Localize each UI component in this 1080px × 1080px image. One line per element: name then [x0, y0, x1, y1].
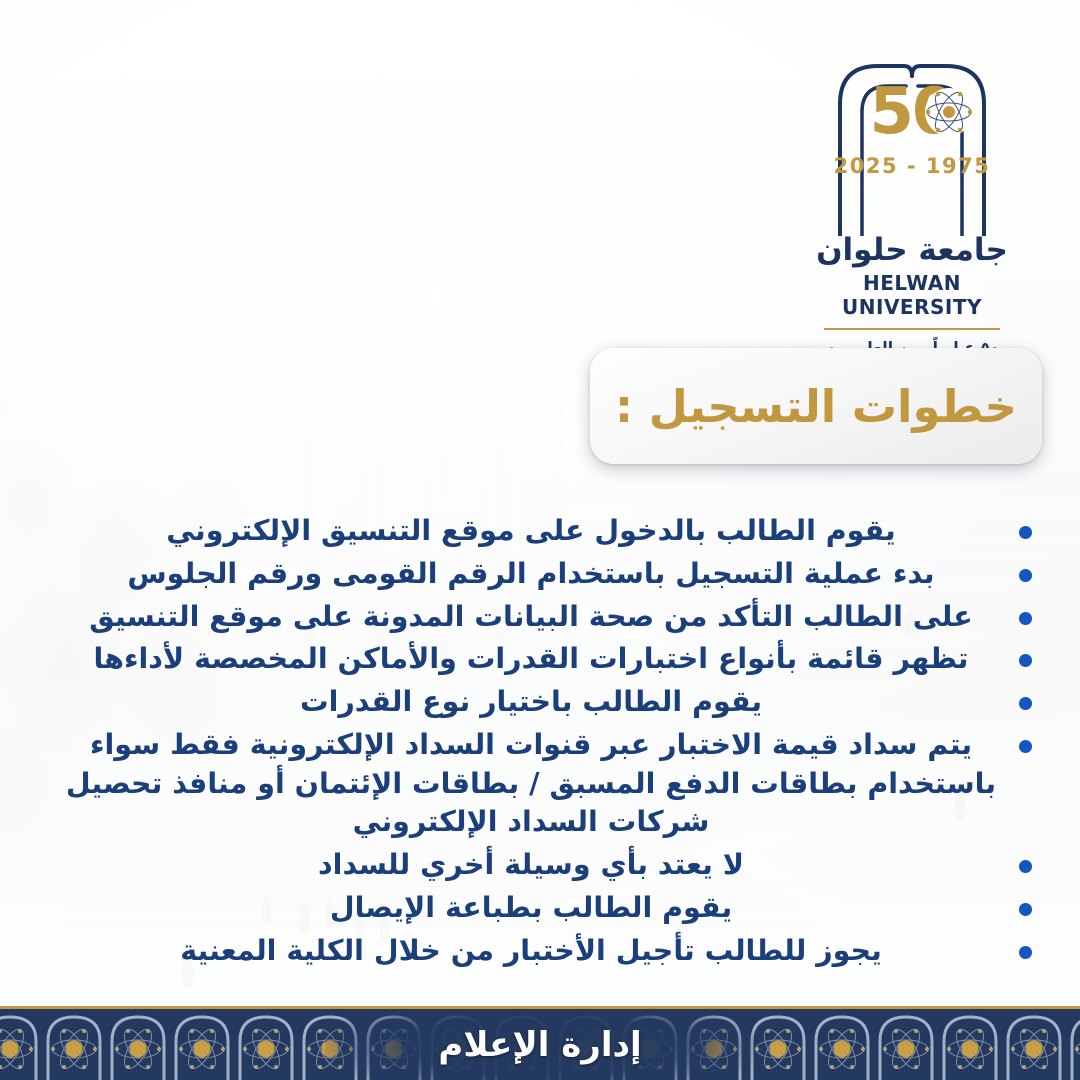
registration-step-item: يقوم الطالب بطباعة الإيصال	[60, 889, 1036, 928]
bullet-icon	[1019, 654, 1032, 667]
logo-anniversary-mark: 50 1975 - 2025	[796, 56, 1028, 236]
registration-step-item: يتم سداد قيمة الاختبار عبر قنوات السداد …	[60, 726, 1036, 842]
registration-step-text: يتم سداد قيمة الاختبار عبر قنوات السداد …	[66, 728, 996, 839]
registration-step-item: تظهر قائمة بأنواع اختبارات القدرات والأم…	[60, 640, 1036, 679]
bullet-icon	[1019, 526, 1032, 539]
page-title: خطوات التسجيل :	[615, 380, 1017, 433]
logo-divider	[824, 328, 1000, 330]
bullet-icon	[1019, 697, 1032, 710]
registration-steps-list: يقوم الطالب بالدخول على موقع التنسيق الإ…	[60, 512, 1036, 974]
registration-step-text: يقوم الطالب باختيار نوع القدرات	[300, 685, 762, 718]
registration-step-item: بدء عملية التسجيل باستخدام الرقم القومى …	[60, 555, 1036, 594]
registration-step-item: لا يعتد بأي وسيلة أخري للسداد	[60, 846, 1036, 885]
logo-years-range: 1975 - 2025	[796, 154, 1028, 178]
registration-step-item: يجوز للطالب تأجيل الأختبار من خلال الكلي…	[60, 932, 1036, 971]
footer-department-label: إدارة الإعلام	[0, 1009, 1080, 1080]
logo-50-number: 50	[796, 80, 1028, 144]
bullet-icon	[1019, 946, 1032, 959]
bullet-icon	[1019, 569, 1032, 582]
poster-canvas: 50 1975 - 2025 جامعة حلوان HELWAN UNIVER…	[0, 0, 1080, 1080]
registration-step-text: لا يعتد بأي وسيلة أخري للسداد	[318, 848, 744, 881]
bullet-icon	[1019, 860, 1032, 873]
registration-step-text: بدء عملية التسجيل باستخدام الرقم القومى …	[127, 557, 934, 590]
registration-step-text: على الطالب التأكد من صحة البيانات المدون…	[89, 600, 972, 633]
title-banner: خطوات التسجيل :	[590, 348, 1042, 464]
registration-step-text: يقوم الطالب بطباعة الإيصال	[330, 891, 732, 924]
registration-step-text: تظهر قائمة بأنواع اختبارات القدرات والأم…	[94, 642, 969, 675]
bullet-icon	[1019, 740, 1032, 753]
registration-step-text: يقوم الطالب بالدخول على موقع التنسيق الإ…	[166, 514, 896, 547]
helwan-university-logo: 50 1975 - 2025 جامعة حلوان HELWAN UNIVER…	[796, 56, 1028, 382]
registration-step-item: على الطالب التأكد من صحة البيانات المدون…	[60, 598, 1036, 637]
atom-icon	[923, 86, 975, 138]
footer-bar: إدارة الإعلام	[0, 1006, 1080, 1080]
bullet-icon	[1019, 903, 1032, 916]
logo-university-name-en: HELWAN UNIVERSITY	[796, 271, 1028, 319]
registration-step-text: يجوز للطالب تأجيل الأختبار من خلال الكلي…	[180, 934, 882, 967]
registration-step-item: يقوم الطالب بالدخول على موقع التنسيق الإ…	[60, 512, 1036, 551]
logo-university-name-ar: جامعة حلوان	[796, 232, 1028, 268]
bullet-icon	[1019, 612, 1032, 625]
registration-step-item: يقوم الطالب باختيار نوع القدرات	[60, 683, 1036, 722]
